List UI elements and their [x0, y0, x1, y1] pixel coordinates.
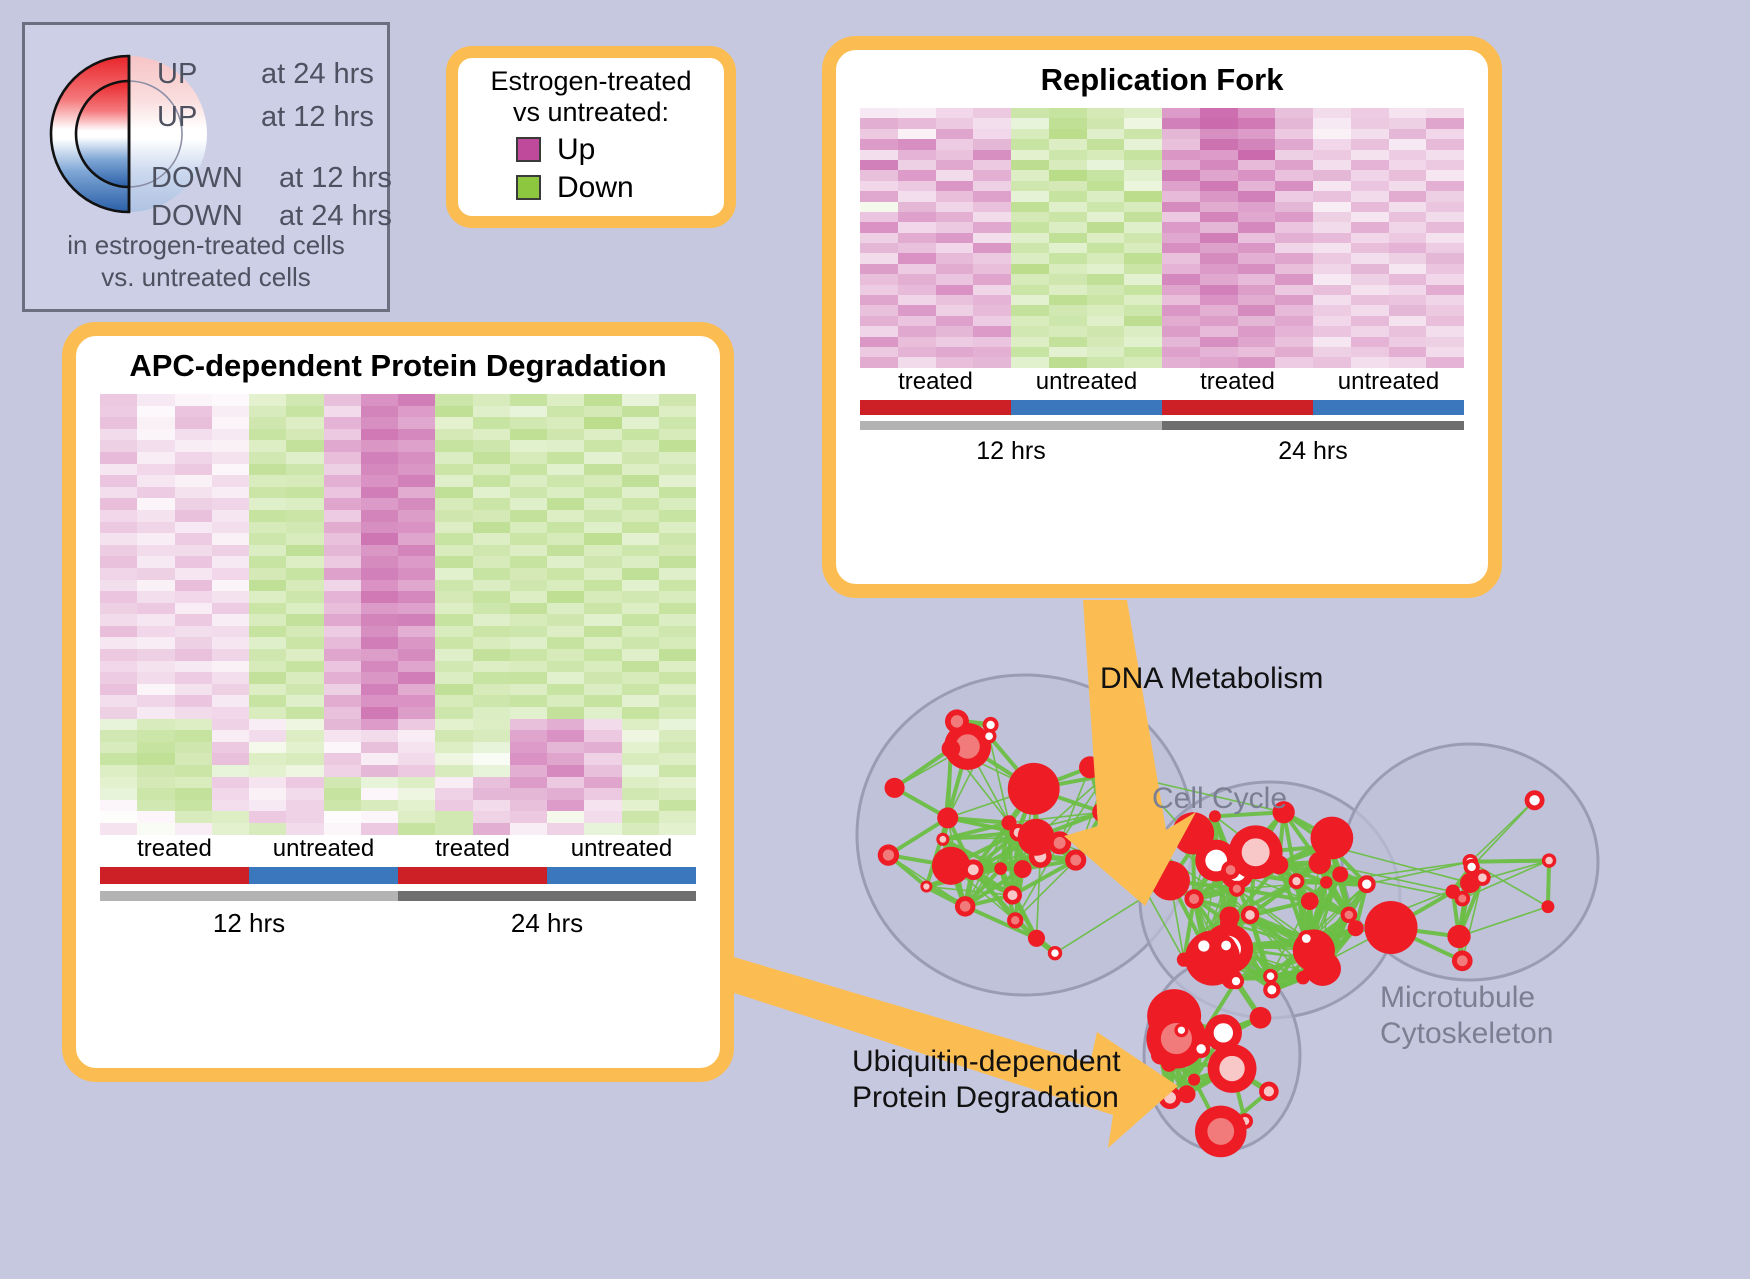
heatmap-cell: [212, 730, 249, 742]
heatmap-cell: [1162, 129, 1200, 139]
heatmap-cell: [324, 823, 361, 835]
heatmap-cell: [286, 603, 323, 615]
heatmap-cell: [100, 475, 137, 487]
treatment-bar-segment: [547, 867, 696, 884]
heatmap-cell: [212, 394, 249, 406]
heatmap-cell: [584, 811, 621, 823]
heatmap-cell: [249, 475, 286, 487]
heatmap-cell: [659, 510, 696, 522]
heatmap-cell: [898, 118, 936, 128]
heatmap-cell: [659, 498, 696, 510]
heatmap-cell: [622, 719, 659, 731]
heatmap-cell: [1124, 129, 1162, 139]
network-node-core: [923, 883, 929, 889]
heatmap-cell: [510, 487, 547, 499]
heatmap-cell: [510, 429, 547, 441]
heatmap-cell: [100, 730, 137, 742]
heatmap-cell: [936, 253, 974, 263]
heatmap-cell: [1426, 326, 1464, 336]
heatmap-cell: [510, 811, 547, 823]
network-node-core: [1008, 890, 1018, 900]
heatmap-cell: [100, 672, 137, 684]
heatmap-cell: [361, 591, 398, 603]
heatmap-cell: [1238, 202, 1276, 212]
heatmap-cell: [1275, 160, 1313, 170]
heatmap-cell: [324, 498, 361, 510]
heatmap-cell: [473, 603, 510, 615]
heatmap-cell: [1162, 337, 1200, 347]
heatmap-cell: [1313, 316, 1351, 326]
heatmap-cell: [1238, 253, 1276, 263]
heatmap-cell: [286, 730, 323, 742]
heatmap-cell: [435, 487, 472, 499]
heatmap-cell: [584, 777, 621, 789]
heatmap-cell: [398, 568, 435, 580]
heatmap-cell: [100, 498, 137, 510]
network-node-core: [1458, 895, 1466, 903]
heatmap-cell: [510, 464, 547, 476]
heatmap-cell: [286, 487, 323, 499]
heatmap-cell: [860, 326, 898, 336]
replication-fork-panel: Replication Fork treateduntreatedtreated…: [822, 36, 1502, 598]
heatmap-cell: [1162, 150, 1200, 160]
heatmap-cell: [286, 695, 323, 707]
heatmap-cell: [973, 316, 1011, 326]
heatmap-cell: [622, 811, 659, 823]
heatmap-cell: [324, 719, 361, 731]
heatmap-cell: [1124, 316, 1162, 326]
heatmap-cell: [898, 295, 936, 305]
heatmap-cell: [860, 202, 898, 212]
heatmap-cell: [175, 707, 212, 719]
heatmap-cell: [286, 452, 323, 464]
heatmap-cell: [286, 464, 323, 476]
heatmap-cell: [1087, 253, 1125, 263]
heatmap-cell: [510, 394, 547, 406]
heatmap-cell: [286, 406, 323, 418]
heatmap-cell: [1313, 357, 1351, 367]
heatmap-cell: [547, 394, 584, 406]
heatmap-cell: [398, 695, 435, 707]
heatmap-cell: [659, 591, 696, 603]
heatmap-cell: [659, 464, 696, 476]
heatmap-cell: [584, 452, 621, 464]
heatmap-cell: [898, 305, 936, 315]
heatmap-cell: [1124, 337, 1162, 347]
heatmap-cell: [473, 533, 510, 545]
heatmap-cell: [973, 233, 1011, 243]
heatmap-cell: [1275, 357, 1313, 367]
heatmap-cell: [473, 695, 510, 707]
heatmap-cell: [212, 661, 249, 673]
heatmap-cell: [1049, 181, 1087, 191]
heatmap-cell: [659, 719, 696, 731]
heatmap-cell: [398, 730, 435, 742]
heatmap-cell: [584, 800, 621, 812]
heatmap-cell: [1426, 191, 1464, 201]
network-node-core: [951, 715, 963, 727]
heatmap-cell: [1011, 253, 1049, 263]
heatmap-cell: [473, 417, 510, 429]
heatmap-cell: [547, 533, 584, 545]
treatment-bar-segment: [100, 867, 249, 884]
heatmap-cell: [324, 800, 361, 812]
heatmap-cell: [324, 730, 361, 742]
heatmap-cell: [361, 556, 398, 568]
network-node: [1309, 953, 1341, 985]
heatmap-cell: [324, 533, 361, 545]
heatmap-cell: [435, 637, 472, 649]
heatmap-cell: [137, 695, 174, 707]
heatmap-cell: [1426, 150, 1464, 160]
network-node-core: [1529, 795, 1539, 805]
heatmap-cell: [137, 684, 174, 696]
heatmap-cell: [659, 823, 696, 835]
heatmap-cell: [473, 440, 510, 452]
heatmap-cell: [1124, 150, 1162, 160]
heatmap-cell: [659, 417, 696, 429]
heatmap-cell: [100, 777, 137, 789]
heatmap-cell: [1087, 264, 1125, 274]
network-node: [1001, 815, 1016, 830]
heatmap-cell: [1313, 295, 1351, 305]
heatmap-cell: [324, 464, 361, 476]
heatmap-cell: [1124, 264, 1162, 274]
heatmap-cell: [1238, 129, 1276, 139]
heatmap-cell: [249, 788, 286, 800]
heatmap-cell: [435, 406, 472, 418]
heatmap-cell: [361, 661, 398, 673]
heatmap-cell: [175, 417, 212, 429]
apc-treatment-bar: [100, 867, 696, 884]
heatmap-cell: [324, 417, 361, 429]
heatmap-cell: [1200, 274, 1238, 284]
heatmap-cell: [1426, 253, 1464, 263]
heatmap-cell: [100, 800, 137, 812]
heatmap-cell: [584, 614, 621, 626]
heatmap-cell: [547, 777, 584, 789]
heatmap-cell: [936, 243, 974, 253]
heatmap-cell: [324, 626, 361, 638]
heatmap-cell: [622, 753, 659, 765]
heatmap-cell: [473, 753, 510, 765]
heatmap-cell: [510, 695, 547, 707]
heatmap-cell: [659, 406, 696, 418]
heatmap-cell: [435, 580, 472, 592]
group-label: untreated: [547, 835, 696, 863]
heatmap-cell: [100, 811, 137, 823]
heatmap-cell: [212, 406, 249, 418]
heatmap-cell: [137, 603, 174, 615]
heatmap-cell: [175, 626, 212, 638]
heatmap-cell: [1011, 160, 1049, 170]
heatmap-cell: [398, 649, 435, 661]
network-node: [885, 778, 905, 798]
network-node: [1332, 866, 1348, 882]
heatmap-cell: [1087, 233, 1125, 243]
heatmap-cell: [1011, 274, 1049, 284]
heatmap-cell: [1200, 118, 1238, 128]
heatmap-cell: [659, 661, 696, 673]
heatmap-cell: [659, 533, 696, 545]
legend-title-line2: vs untreated:: [458, 97, 724, 128]
heatmap-cell: [1351, 150, 1389, 160]
network-node-core: [1054, 837, 1066, 849]
heatmap-cell: [1011, 285, 1049, 295]
heatmap-cell: [286, 498, 323, 510]
heatmap-cell: [137, 417, 174, 429]
heatmap-cell: [936, 285, 974, 295]
heatmap-cell: [324, 452, 361, 464]
network-node-core: [1264, 1086, 1274, 1096]
heatmap-cell: [584, 719, 621, 731]
heatmap-cell: [286, 637, 323, 649]
heatmap-cell: [1275, 285, 1313, 295]
key-time-down-24: at 24 hrs: [279, 200, 392, 232]
heatmap-cell: [547, 406, 584, 418]
heatmap-cell: [1162, 347, 1200, 357]
heatmap-cell: [622, 707, 659, 719]
heatmap-cell: [398, 614, 435, 626]
heatmap-cell: [324, 707, 361, 719]
heatmap-cell: [1162, 108, 1200, 118]
heatmap-cell: [1275, 295, 1313, 305]
heatmap-cell: [175, 695, 212, 707]
heatmap-cell: [1389, 160, 1427, 170]
heatmap-cell: [286, 429, 323, 441]
heatmap-cell: [100, 487, 137, 499]
heatmap-cell: [1238, 326, 1276, 336]
heatmap-cell: [361, 568, 398, 580]
heatmap-cell: [1087, 347, 1125, 357]
heatmap-cell: [100, 568, 137, 580]
network-node-core: [1292, 877, 1300, 885]
heatmap-cell: [1124, 253, 1162, 263]
heatmap-cell: [361, 684, 398, 696]
heatmap-cell: [398, 556, 435, 568]
heatmap-cell: [212, 417, 249, 429]
heatmap-cell: [1426, 160, 1464, 170]
heatmap-cell: [249, 672, 286, 684]
heatmap-cell: [398, 591, 435, 603]
heatmap-cell: [435, 522, 472, 534]
time-bar-segment: [860, 421, 1162, 430]
pathway-network-graph: [770, 600, 1750, 1279]
heatmap-cell: [1011, 264, 1049, 274]
heatmap-cell: [398, 580, 435, 592]
replication-fork-group-labels: treateduntreatedtreateduntreated: [860, 368, 1464, 396]
heatmap-cell: [435, 394, 472, 406]
replication-fork-treatment-bar: [860, 400, 1464, 415]
heatmap-cell: [898, 274, 936, 284]
heatmap-cell: [1426, 170, 1464, 180]
heatmap-cell: [249, 394, 286, 406]
heatmap-cell: [100, 522, 137, 534]
heatmap-cell: [137, 510, 174, 522]
heatmap-cell: [137, 429, 174, 441]
heatmap-cell: [1313, 191, 1351, 201]
heatmap-cell: [398, 707, 435, 719]
heatmap-cell: [100, 823, 137, 835]
heatmap-cell: [936, 347, 974, 357]
heatmap-cell: [1049, 202, 1087, 212]
heatmap-cell: [584, 533, 621, 545]
heatmap-cell: [100, 614, 137, 626]
heatmap-cell: [584, 823, 621, 835]
heatmap-cell: [1162, 253, 1200, 263]
heatmap-cell: [510, 788, 547, 800]
heatmap-cell: [1426, 305, 1464, 315]
heatmap-cell: [100, 580, 137, 592]
heatmap-cell: [1049, 233, 1087, 243]
heatmap-cell: [361, 498, 398, 510]
heatmap-cell: [659, 440, 696, 452]
heatmap-cell: [898, 233, 936, 243]
heatmap-cell: [1313, 264, 1351, 274]
heatmap-cell: [1011, 118, 1049, 128]
heatmap-cell: [547, 475, 584, 487]
heatmap-cell: [473, 661, 510, 673]
group-label: treated: [1162, 368, 1313, 396]
heatmap-cell: [584, 765, 621, 777]
heatmap-cell: [473, 730, 510, 742]
heatmap-cell: [1313, 170, 1351, 180]
heatmap-cell: [622, 440, 659, 452]
heatmap-cell: [1011, 243, 1049, 253]
heatmap-cell: [286, 440, 323, 452]
heatmap-cell: [1426, 222, 1464, 232]
heatmap-cell: [973, 212, 1011, 222]
heatmap-cell: [659, 777, 696, 789]
heatmap-cell: [584, 429, 621, 441]
heatmap-cell: [361, 765, 398, 777]
heatmap-cell: [622, 475, 659, 487]
time-bar-segment: [1162, 421, 1464, 430]
network-node-core: [960, 901, 971, 912]
heatmap-cell: [286, 707, 323, 719]
heatmap-cell: [324, 603, 361, 615]
heatmap-cell: [137, 394, 174, 406]
heatmap-cell: [249, 522, 286, 534]
network-node: [1320, 876, 1332, 888]
time-bar-segment: [100, 891, 398, 901]
heatmap-cell: [286, 661, 323, 673]
heatmap-cell: [435, 498, 472, 510]
heatmap-cell: [936, 326, 974, 336]
key-direction-down-24: DOWN: [151, 200, 243, 232]
group-label: untreated: [1011, 368, 1162, 396]
heatmap-cell: [547, 487, 584, 499]
heatmap-cell: [249, 440, 286, 452]
heatmap-cell: [547, 556, 584, 568]
heatmap-cell: [1313, 285, 1351, 295]
heatmap-cell: [1351, 139, 1389, 149]
heatmap-cell: [324, 545, 361, 557]
heatmap-cell: [249, 649, 286, 661]
heatmap-cell: [1426, 202, 1464, 212]
heatmap-cell: [1200, 150, 1238, 160]
heatmap-cell: [175, 672, 212, 684]
heatmap-cell: [1313, 222, 1351, 232]
heatmap-cell: [137, 661, 174, 673]
heatmap-cell: [584, 742, 621, 754]
heatmap-cell: [473, 545, 510, 557]
heatmap-cell: [898, 150, 936, 160]
time-label: 12 hrs: [100, 908, 398, 939]
heatmap-cell: [898, 108, 936, 118]
heatmap-cell: [100, 464, 137, 476]
heatmap-cell: [361, 626, 398, 638]
group-label: treated: [398, 835, 547, 863]
heatmap-cell: [1162, 274, 1200, 284]
heatmap-cell: [175, 800, 212, 812]
heatmap-cell: [1011, 139, 1049, 149]
heatmap-cell: [1124, 222, 1162, 232]
heatmap-cell: [1238, 170, 1276, 180]
heatmap-cell: [175, 556, 212, 568]
heatmap-cell: [361, 719, 398, 731]
heatmap-cell: [473, 429, 510, 441]
heatmap-cell: [286, 591, 323, 603]
heatmap-cell: [547, 510, 584, 522]
heatmap-cell: [1049, 347, 1087, 357]
heatmap-cell: [622, 464, 659, 476]
heatmap-cell: [361, 464, 398, 476]
heatmap-cell: [584, 406, 621, 418]
heatmap-cell: [510, 719, 547, 731]
heatmap-cell: [398, 522, 435, 534]
heatmap-cell: [1238, 295, 1276, 305]
heatmap-cell: [175, 545, 212, 557]
heatmap-cell: [1049, 118, 1087, 128]
heatmap-cell: [286, 556, 323, 568]
heatmap-cell: [973, 181, 1011, 191]
heatmap-cell: [1351, 347, 1389, 357]
heatmap-cell: [175, 568, 212, 580]
cluster-label-ubiquitin-degradation: Ubiquitin-dependent Protein Degradation: [852, 1044, 1121, 1116]
network-node: [1348, 920, 1364, 936]
replication-fork-heatmap: [860, 108, 1464, 368]
heatmap-cell: [1124, 326, 1162, 336]
heatmap-cell: [175, 753, 212, 765]
heatmap-cell: [1275, 347, 1313, 357]
heatmap-cell: [1200, 139, 1238, 149]
heatmap-cell: [1049, 326, 1087, 336]
heatmap-cell: [1389, 150, 1427, 160]
heatmap-cell: [973, 243, 1011, 253]
heatmap-cell: [510, 753, 547, 765]
heatmap-cell: [1275, 274, 1313, 284]
heatmap-cell: [1238, 274, 1276, 284]
heatmap-cell: [659, 707, 696, 719]
heatmap-cell: [973, 305, 1011, 315]
treatment-bar-segment: [1162, 400, 1313, 415]
heatmap-cell: [659, 394, 696, 406]
heatmap-cell: [1087, 202, 1125, 212]
heatmap-cell: [1087, 295, 1125, 305]
heatmap-cell: [898, 264, 936, 274]
network-node: [1541, 900, 1554, 913]
heatmap-cell: [1351, 295, 1389, 305]
heatmap-cell: [100, 637, 137, 649]
heatmap-cell: [1313, 108, 1351, 118]
heatmap-cell: [1124, 170, 1162, 180]
heatmap-cell: [398, 464, 435, 476]
heatmap-cell: [622, 498, 659, 510]
heatmap-cell: [547, 800, 584, 812]
network-node: [1250, 1007, 1272, 1029]
heatmap-cell: [286, 649, 323, 661]
